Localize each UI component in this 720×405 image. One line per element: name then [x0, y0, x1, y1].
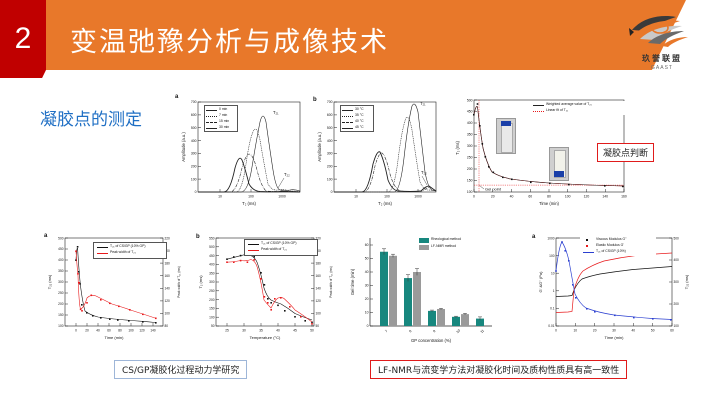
- chart-bottom-d-legend: Viscous Modulus G'' Elastic Modulus G' T…: [580, 236, 656, 256]
- svg-text:500: 500: [191, 126, 197, 130]
- svg-text:500: 500: [327, 126, 333, 130]
- chart-bottom-c-legend: Rheological method LF-NMR method: [416, 236, 502, 254]
- svg-text:100: 100: [165, 312, 171, 316]
- svg-text:8: 8: [408, 329, 412, 333]
- svg-text:50: 50: [310, 329, 314, 333]
- svg-text:450: 450: [58, 247, 64, 251]
- svg-text:G' &G'' (Pa): G' &G'' (Pa): [538, 271, 543, 293]
- svg-text:T₂₂: T₂₂: [421, 170, 427, 175]
- svg-text:500: 500: [467, 98, 473, 102]
- svg-text:40: 40: [365, 270, 369, 274]
- svg-text:30: 30: [365, 284, 369, 288]
- svg-text:140: 140: [150, 329, 156, 333]
- svg-text:100: 100: [248, 195, 254, 199]
- svg-text:T₂₁ (ms): T₂₁ (ms): [684, 274, 689, 289]
- chart-bottom-a-legend: T₂₁ of CS/GP (10% GP) Peak width of T₂₁: [93, 242, 167, 259]
- svg-text:200: 200: [674, 302, 680, 306]
- svg-text:400: 400: [674, 258, 680, 262]
- svg-text:9: 9: [432, 329, 436, 333]
- svg-text:100: 100: [674, 324, 680, 328]
- svg-text:500: 500: [209, 245, 215, 249]
- svg-text:200: 200: [191, 165, 197, 169]
- svg-text:1000: 1000: [278, 195, 286, 199]
- svg-text:700: 700: [191, 100, 197, 104]
- svg-text:7: 7: [384, 329, 388, 333]
- svg-text:T₂ (ms): T₂ (ms): [455, 141, 460, 155]
- legend-item: Linear fit of T₂₁: [532, 108, 630, 114]
- svg-text:180: 180: [316, 261, 322, 265]
- logo-brand-en: GAAST: [616, 65, 708, 71]
- svg-text:350: 350: [209, 271, 215, 275]
- svg-text:10: 10: [551, 271, 555, 275]
- svg-text:20: 20: [491, 195, 495, 199]
- svg-text:450: 450: [467, 110, 473, 114]
- svg-text:T₂ (ms): T₂ (ms): [242, 201, 256, 206]
- svg-text:300: 300: [191, 152, 197, 156]
- svg-text:20: 20: [365, 297, 369, 301]
- svg-text:20: 20: [593, 329, 597, 333]
- svg-text:25: 25: [225, 329, 229, 333]
- svg-text:100: 100: [191, 177, 197, 181]
- chart-top-b-plot: 0100 200300 400500 600700 101001000 T₂ (…: [308, 92, 443, 216]
- svg-text:T₂₁: T₂₁: [273, 110, 279, 115]
- svg-text:120: 120: [316, 299, 322, 303]
- svg-text:300: 300: [58, 280, 64, 284]
- svg-text:200: 200: [327, 165, 333, 169]
- svg-text:100: 100: [565, 195, 571, 199]
- panel-letter-b: b: [313, 97, 317, 103]
- section-number: 2: [0, 0, 46, 78]
- svg-text:140: 140: [602, 195, 608, 199]
- svg-text:200: 200: [467, 167, 473, 171]
- legend-item: Rheological method: [418, 237, 500, 244]
- svg-text:200: 200: [58, 302, 64, 306]
- svg-text:400: 400: [327, 139, 333, 143]
- svg-text:1000: 1000: [414, 195, 422, 199]
- svg-text:50: 50: [316, 324, 320, 328]
- svg-text:220: 220: [165, 236, 171, 240]
- svg-text:60: 60: [107, 329, 111, 333]
- svg-text:T₂ (ms): T₂ (ms): [378, 201, 392, 206]
- svg-text:1000: 1000: [547, 236, 554, 240]
- legend-item: 45 °C: [341, 125, 373, 131]
- brand-logo: 玖誉联盟 GAAST: [616, 8, 708, 72]
- chart-top-b: b 0100 200300 400500 600700 101001000 T₂…: [308, 92, 443, 216]
- svg-text:0: 0: [367, 324, 369, 328]
- svg-text:120: 120: [139, 329, 145, 333]
- svg-text:10: 10: [574, 329, 578, 333]
- svg-text:Peak width of T₂₁ (ms): Peak width of T₂₁ (ms): [329, 266, 333, 297]
- svg-text:100: 100: [316, 312, 322, 316]
- logo-brand-cn: 玖誉联盟: [616, 53, 708, 64]
- svg-text:0: 0: [331, 190, 333, 194]
- svg-text:350: 350: [467, 133, 473, 137]
- svg-text:140: 140: [165, 287, 171, 291]
- svg-text:180: 180: [165, 261, 171, 265]
- svg-text:200: 200: [209, 298, 215, 302]
- panel-letter-bottom-b: b: [196, 234, 200, 240]
- svg-text:150: 150: [209, 307, 215, 311]
- svg-text:T₂₂: T₂₂: [284, 172, 290, 177]
- legend-item: T₂₁ of CS/GP (10%): [582, 249, 654, 255]
- svg-text:10: 10: [354, 195, 358, 199]
- svg-text:60: 60: [365, 243, 369, 247]
- svg-text:40: 40: [510, 195, 514, 199]
- svg-text:150: 150: [467, 179, 473, 183]
- svg-text:Amplitude (a.u.): Amplitude (a.u.): [317, 132, 322, 162]
- svg-text:0: 0: [555, 329, 557, 333]
- svg-text:11: 11: [480, 329, 485, 334]
- chart-top-a: a 0100 200300 400500 600700 101001000 T₂…: [172, 92, 307, 216]
- svg-text:150: 150: [58, 313, 64, 317]
- panel-letter-bottom-d: a: [532, 234, 535, 240]
- svg-text:600: 600: [327, 113, 333, 117]
- svg-text:0.01: 0.01: [548, 324, 554, 328]
- svg-text:550: 550: [209, 236, 215, 240]
- svg-text:T₂₁: T₂₁: [420, 101, 426, 106]
- chart-bottom-d: 0.010.1 110 1001000 100200 300400 500 01…: [528, 228, 698, 353]
- svg-text:T₂₁ (ms): T₂₁ (ms): [47, 274, 52, 289]
- section-label: 凝胶点的测定: [40, 105, 142, 130]
- svg-text:400: 400: [209, 263, 215, 267]
- svg-text:Time (min): Time (min): [605, 335, 625, 340]
- legend-item: Peak width of T₂₁: [247, 247, 315, 253]
- svg-text:500: 500: [58, 236, 64, 240]
- svg-text:80: 80: [547, 195, 551, 199]
- page-title: 变温弛豫分析与成像技术: [70, 0, 389, 78]
- svg-text:100: 100: [327, 177, 333, 181]
- svg-text:Time (min): Time (min): [539, 201, 559, 206]
- svg-text:160: 160: [621, 195, 627, 199]
- header-white-strip: [42, 70, 686, 79]
- svg-text:120: 120: [165, 299, 171, 303]
- panel-letter-bottom-a: a: [44, 233, 47, 239]
- svg-text:160: 160: [165, 274, 171, 278]
- svg-text:300: 300: [467, 144, 473, 148]
- svg-text:100: 100: [209, 315, 215, 319]
- chart-top-b-legend: 30 °C 35 °C 40 °C 45 °C: [340, 105, 374, 132]
- svg-text:100: 100: [128, 329, 134, 333]
- svg-text:100: 100: [384, 195, 390, 199]
- svg-text:250: 250: [467, 156, 473, 160]
- svg-text:Temperature (°C): Temperature (°C): [250, 335, 281, 340]
- svg-text:Time (min): Time (min): [105, 335, 125, 340]
- svg-text:60: 60: [528, 195, 532, 199]
- svg-text:400: 400: [467, 121, 473, 125]
- svg-text:0: 0: [195, 190, 197, 194]
- svg-text:40: 40: [276, 329, 280, 333]
- svg-text:Gel time (min): Gel time (min): [350, 268, 355, 295]
- svg-text:450: 450: [209, 254, 215, 258]
- svg-text:100: 100: [467, 190, 473, 194]
- svg-text:600: 600: [191, 113, 197, 117]
- svg-text:0: 0: [473, 195, 475, 199]
- svg-text:Amplitude (a.u.): Amplitude (a.u.): [181, 132, 186, 162]
- svg-text:30: 30: [242, 329, 246, 333]
- svg-text:100: 100: [549, 254, 555, 258]
- svg-text:10: 10: [365, 311, 369, 315]
- caption-right: LF-NMR与流变学方法对凝胶化时间及质构性质具有高一致性: [370, 360, 627, 379]
- svg-text:T₂ (ms): T₂ (ms): [198, 275, 203, 289]
- svg-text:GP concentration (%): GP concentration (%): [411, 338, 452, 343]
- legend-item: LF-NMR method: [418, 244, 500, 251]
- svg-text:80: 80: [165, 324, 169, 328]
- panel-letter-a: a: [175, 94, 178, 100]
- svg-text:100: 100: [58, 324, 64, 328]
- svg-text:400: 400: [191, 139, 197, 143]
- svg-text:20: 20: [85, 329, 89, 333]
- svg-text:250: 250: [58, 291, 64, 295]
- chart-bottom-c: 010 2030 4050 60 7 8 9 10 11 GP concentr…: [340, 228, 500, 353]
- svg-text:300: 300: [209, 280, 215, 284]
- svg-text:300: 300: [327, 152, 333, 156]
- svg-text:120: 120: [584, 195, 590, 199]
- svg-text:45: 45: [293, 329, 297, 333]
- chart-top-a-legend: 0 min 7 min 15 min 30 min: [204, 105, 238, 132]
- svg-text:10: 10: [456, 328, 462, 334]
- svg-text:0: 0: [75, 329, 77, 333]
- svg-text:30: 30: [612, 329, 616, 333]
- svg-text:80: 80: [118, 329, 122, 333]
- svg-text:160: 160: [316, 274, 322, 278]
- svg-text:40: 40: [96, 329, 100, 333]
- chart-bottom-b-legend: T₂₁ of CS/GP (10% GP) Peak width of T₂₁: [244, 239, 318, 256]
- legend-item: Peak width of T₂₁: [96, 250, 164, 256]
- svg-text:350: 350: [58, 269, 64, 273]
- caption-left: CS/GP凝胶化过程动力学研究: [114, 360, 247, 379]
- chart-top-a-plot: 0100 200300 400500 600700 101001000 T₂ (…: [172, 92, 307, 216]
- sample-photo-after: [549, 147, 569, 181]
- svg-text:50: 50: [365, 257, 369, 261]
- chart-bottom-b: 50100 150200 250300 350400 450500 550 50…: [188, 228, 338, 353]
- chart-bottom-a: 100150 200250 300350 400450 500 80100 12…: [38, 228, 186, 353]
- svg-text:140: 140: [316, 287, 322, 291]
- svg-text:1: 1: [553, 289, 555, 293]
- slide-header: 2 变温弛豫分析与成像技术: [0, 0, 720, 78]
- svg-text:500: 500: [674, 236, 680, 240]
- svg-text:300: 300: [674, 280, 680, 284]
- svg-text:400: 400: [58, 258, 64, 262]
- svg-text:0.1: 0.1: [550, 307, 555, 311]
- svg-text:60: 60: [670, 329, 674, 333]
- chart-top-c-legend: Weighted average value of T₂₁ Linear fit…: [532, 101, 630, 115]
- svg-text:Gel point: Gel point: [485, 187, 502, 192]
- svg-text:40: 40: [632, 329, 636, 333]
- legend-item: 30 min: [205, 125, 237, 131]
- svg-text:35: 35: [259, 329, 263, 333]
- svg-text:Peak width of T₂₁ (ms): Peak width of T₂₁ (ms): [177, 266, 181, 297]
- svg-text:50: 50: [651, 329, 655, 333]
- gel-point-callout: 凝胶点判断: [597, 143, 654, 162]
- svg-text:250: 250: [209, 289, 215, 293]
- rog-emblem-icon: [616, 8, 708, 58]
- svg-text:700: 700: [327, 100, 333, 104]
- svg-text:10: 10: [218, 195, 222, 199]
- svg-text:50: 50: [211, 324, 215, 328]
- sample-photo-before: [496, 118, 516, 154]
